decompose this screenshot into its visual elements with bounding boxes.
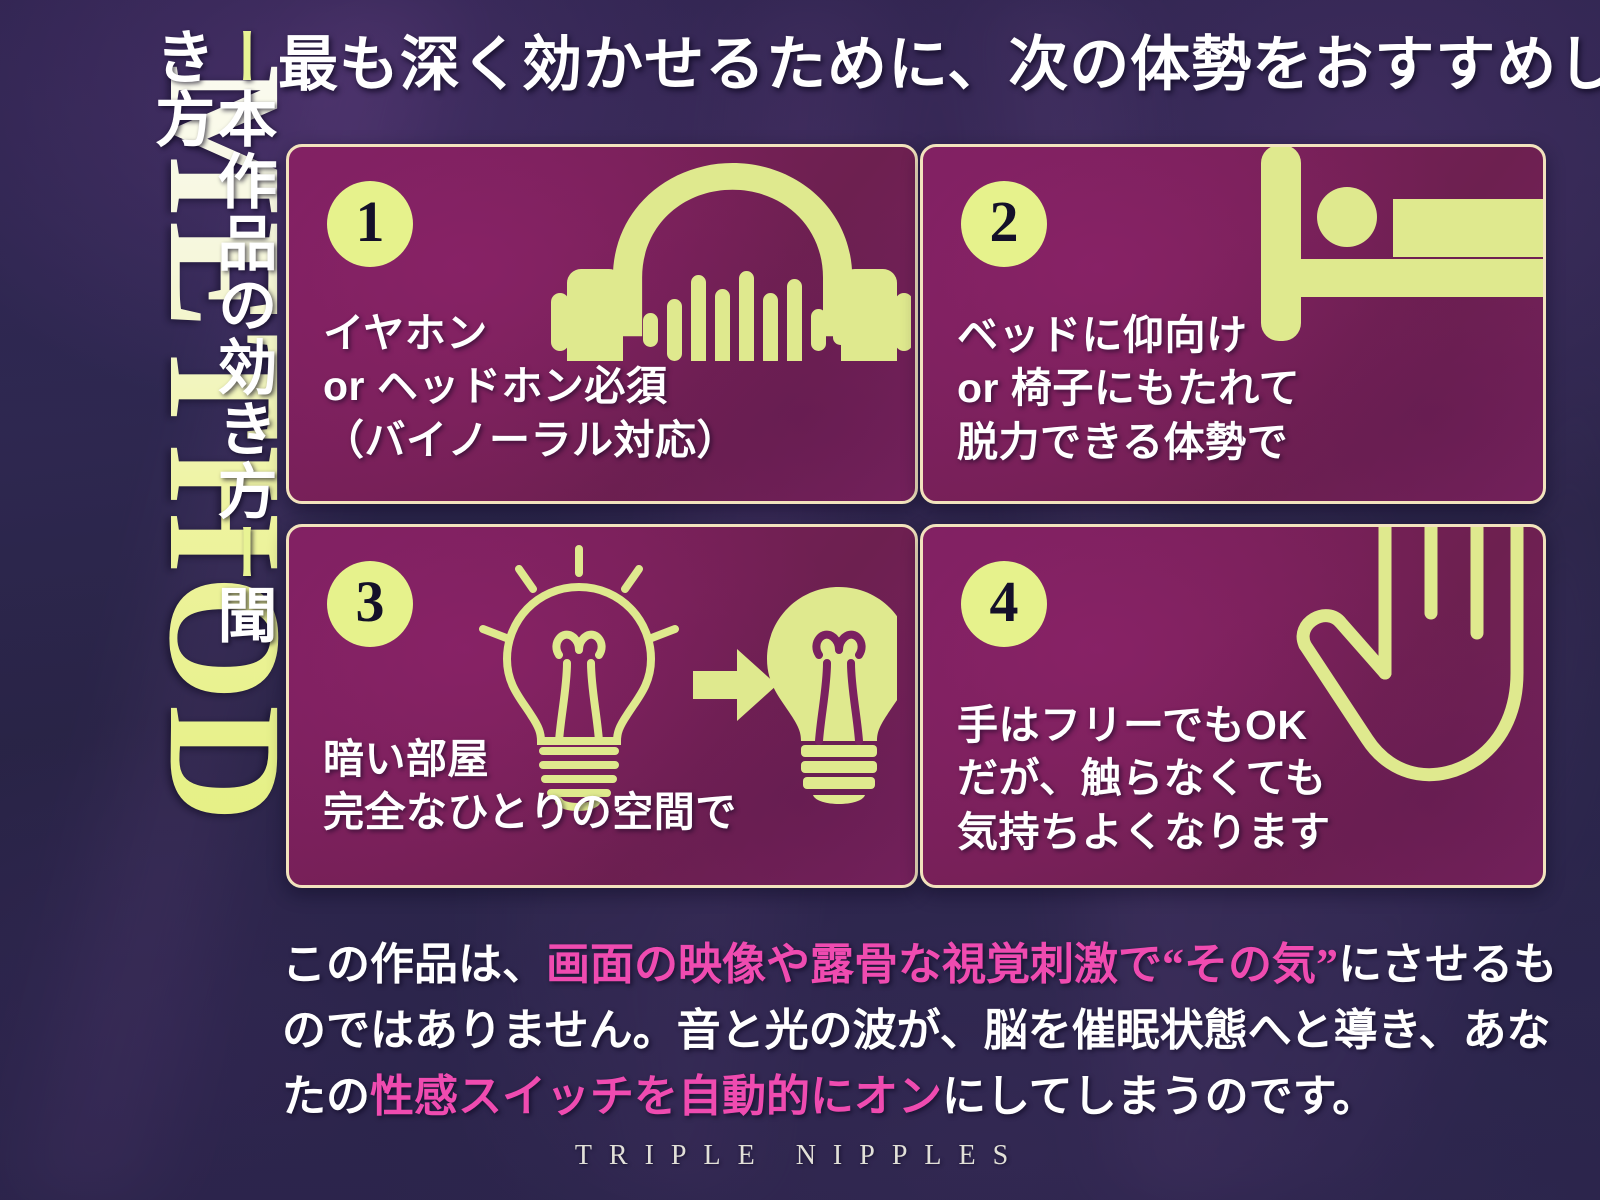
card-4-text: 手はフリーでもOK だが、触らなくても 気持ちよくなります — [957, 699, 1331, 859]
paragraph-segment-1: この作品は、 — [282, 940, 546, 989]
method-card-4: 4 手はフリーでもOK だが、触らなくても 気持ちよくなります — [920, 524, 1546, 888]
card-1-line-3: （バイノーラル対応） — [323, 414, 738, 467]
poster-canvas: METHOD ー本作品の効き方ー聞き方 最も深く効かせるために、次の体勢をおすす… — [0, 0, 1600, 1200]
vertical-subtitle-dash-mid: ー — [209, 522, 275, 584]
method-card-2: 2 ベッドに仰向け or 椅子にもたれて 脱力できる体勢で — [920, 144, 1546, 504]
card-3-text: 暗い部屋 完全なひとりの空間で — [323, 733, 737, 840]
card-number-badge: 1 — [327, 181, 413, 267]
card-4-line-2: だが、触らなくても — [957, 752, 1331, 805]
card-4-line-1: 手はフリーでもOK — [957, 699, 1331, 752]
method-card-3: 3 暗い部屋 完全なひとりの空間で — [286, 524, 918, 888]
card-number-badge: 4 — [961, 561, 1047, 647]
card-2-line-3: 脱力できる体勢で — [957, 416, 1300, 469]
card-1-line-2: or ヘッドホン必須 — [323, 360, 738, 413]
card-2-text: ベッドに仰向け or 椅子にもたれて 脱力できる体勢で — [957, 309, 1300, 469]
vertical-subtitle-dash-top: ー — [209, 26, 275, 88]
card-number-badge: 2 — [961, 181, 1047, 267]
card-2-line-2: or 椅子にもたれて — [957, 362, 1300, 415]
closing-paragraph: この作品は、画面の映像や露骨な視覚刺激で“その気”にさせるものではありません。音… — [282, 932, 1594, 1130]
card-3-line-1: 暗い部屋 — [323, 733, 737, 786]
card-number-badge: 3 — [327, 561, 413, 647]
card-4-line-3: 気持ちよくなります — [957, 806, 1331, 859]
card-1-text: イヤホン or ヘッドホン必須 （バイノーラル対応） — [323, 307, 738, 467]
brand-footer: TRIPLE NIPPLES — [0, 1140, 1600, 1172]
vertical-subtitle: ー本作品の効き方ー聞き方 — [181, 26, 273, 686]
paragraph-segment-5: にしてしまうのです。 — [942, 1072, 1376, 1121]
page-headline: 最も深く効かせるために、次の体勢をおすすめします。 — [278, 32, 1578, 98]
paragraph-highlight-2: 性感スイッチを自動的にオン — [370, 1072, 942, 1121]
vertical-subtitle-part-1: 本作品の効き方 — [209, 88, 275, 522]
method-card-1: 1 イヤホン or ヘッドホン必須 （バイノーラル対応） — [286, 144, 918, 504]
card-3-line-2: 完全なひとりの空間で — [323, 786, 737, 839]
paragraph-highlight-1: 画面の映像や露骨な視覚刺激で“その気” — [546, 940, 1338, 989]
card-2-line-1: ベッドに仰向け — [957, 309, 1300, 362]
card-1-line-1: イヤホン — [323, 307, 738, 360]
